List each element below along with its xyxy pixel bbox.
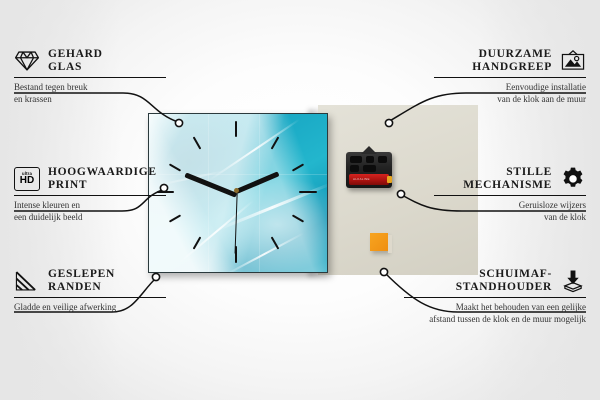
- feature-description: Gladde en veilige afwerking: [14, 302, 194, 314]
- feature-geslepen-randen[interactable]: GESLEPEN RANDEN Gladde en veilige afwerk…: [14, 268, 194, 314]
- foam-spacer: [370, 233, 388, 251]
- feature-gehard-glas[interactable]: GEHARD GLAS Bestand tegen breuk en krass…: [14, 48, 184, 105]
- feature-title: GESLEPEN RANDEN: [48, 268, 115, 294]
- foam-spacer-icon: [560, 268, 586, 294]
- hour-mark: [193, 136, 202, 149]
- battery-terminal: [387, 176, 392, 183]
- feature-title: GEHARD GLAS: [48, 48, 103, 74]
- diamond-icon: [14, 48, 40, 74]
- feature-stille-mechanisme[interactable]: STILLE MECHANISME Geruisloze wijzers van…: [416, 166, 586, 223]
- feature-description: Bestand tegen breuk en krassen: [14, 82, 184, 105]
- feature-title: STILLE MECHANISME: [463, 166, 552, 192]
- feature-title: SCHUIMAF- STANDHOUDER: [456, 268, 552, 294]
- hour-mark: [292, 163, 304, 171]
- infographic-canvas: ALKALINE: [0, 0, 600, 400]
- feature-description: Maakt het behouden van een gelijke afsta…: [386, 302, 586, 325]
- hour-mark: [235, 121, 237, 137]
- gear-icon: [560, 166, 586, 192]
- feature-description: Geruisloze wijzers van de klok: [416, 200, 586, 223]
- clock-movement: ALKALINE: [346, 152, 392, 188]
- beveled-edges-icon: [14, 268, 40, 294]
- title-rule: [434, 77, 586, 78]
- hand-cap: [234, 188, 239, 193]
- feature-title: DUURZAME HANDGREEP: [472, 48, 552, 74]
- title-rule: [14, 297, 166, 298]
- feature-hoogwaardige-print[interactable]: ultra HD HOOGWAARDIGE PRINT Intense kleu…: [14, 166, 199, 223]
- title-rule: [404, 297, 586, 298]
- hour-mark: [299, 191, 317, 193]
- feature-description: Intense kleuren en een duidelijk beeld: [14, 200, 199, 223]
- feature-title: HOOGWAARDIGE PRINT: [48, 166, 157, 192]
- hanging-frame-icon: [560, 48, 586, 74]
- battery: ALKALINE: [349, 174, 389, 185]
- ultra-hd-icon: ultra HD: [14, 167, 40, 191]
- title-rule: [14, 195, 166, 196]
- feature-description: Eenvoudige installatie van de klok aan d…: [416, 82, 586, 105]
- title-rule: [14, 77, 166, 78]
- feature-schuimafstandhouder[interactable]: SCHUIMAF- STANDHOUDER Maakt het behouden…: [386, 268, 586, 325]
- title-rule: [434, 195, 586, 196]
- hour-mark: [292, 214, 304, 222]
- feature-duurzame-handgreep[interactable]: DUURZAME HANDGREEP Eenvoudige installati…: [416, 48, 586, 105]
